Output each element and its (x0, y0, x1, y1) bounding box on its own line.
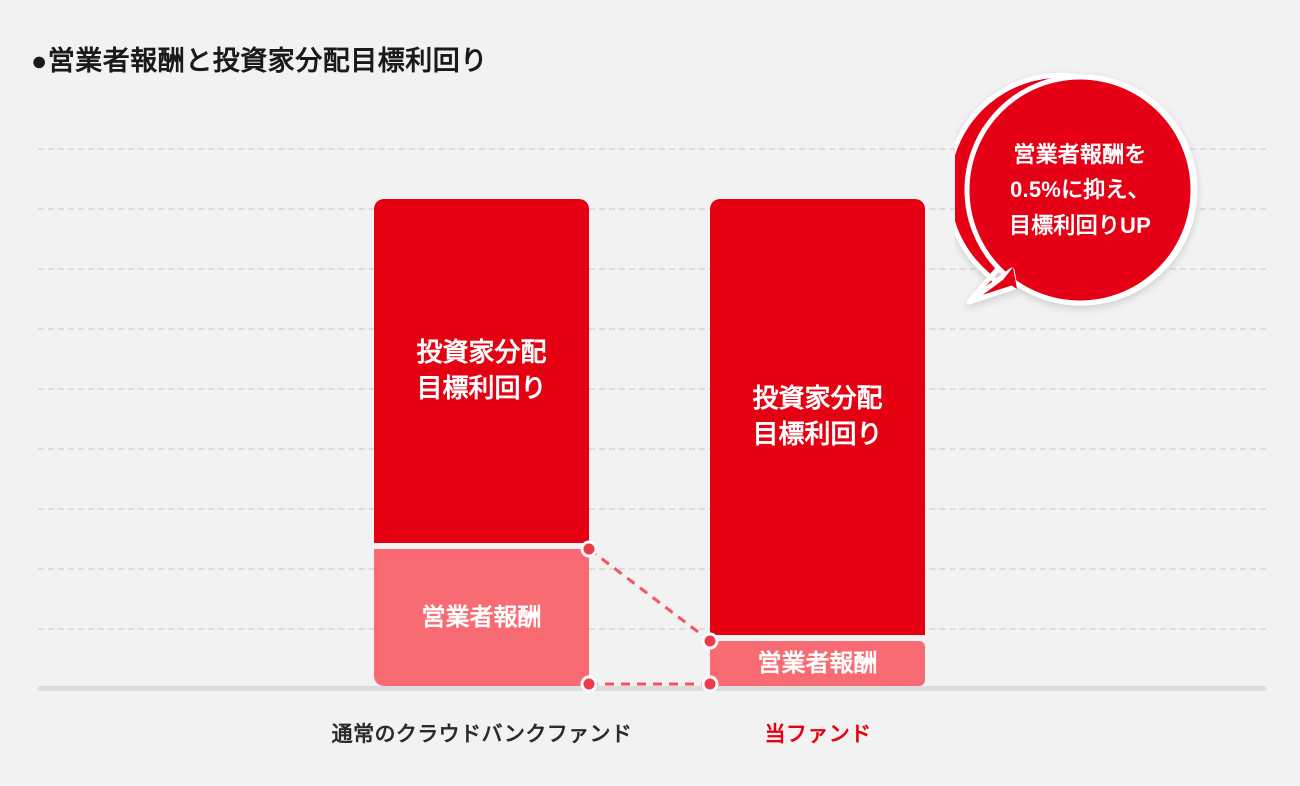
callout-line-2: 0.5%に抑え、 (1010, 172, 1150, 208)
bar-segment-label: 営業者報酬 (758, 647, 878, 680)
gridline (38, 388, 1266, 390)
bar-segment-label: 営業者報酬 (422, 601, 542, 634)
category-label-this-fund: 当ファンド (648, 718, 988, 748)
callout-line-3: 目標利回りUP (1009, 208, 1151, 244)
bar-segment-operator-fee-standard[interactable]: 営業者報酬 (374, 549, 589, 686)
gridline (38, 328, 1266, 330)
category-label-standard-fund: 通常のクラウドバンクファンド (312, 718, 652, 748)
gridline (38, 628, 1266, 630)
bar-segment-investor-yield-standard[interactable]: 投資家分配 目標利回り (374, 199, 589, 543)
callout-line-1: 営業者報酬を (1013, 137, 1146, 173)
bar-segment-investor-yield-this-fund[interactable]: 投資家分配 目標利回り (710, 199, 925, 635)
x-axis-baseline (38, 686, 1266, 691)
gridline (38, 448, 1266, 450)
callout-bubble: 営業者報酬を 0.5%に抑え、 目標利回りUP (967, 77, 1193, 303)
bar-segment-operator-fee-this-fund[interactable]: 営業者報酬 (710, 641, 925, 686)
gridline (38, 568, 1266, 570)
callout-text: 営業者報酬を 0.5%に抑え、 目標利回りUP (967, 77, 1193, 303)
gridline (38, 508, 1266, 510)
bar-segment-label: 投資家分配 目標利回り (752, 381, 882, 453)
bar-segment-label: 投資家分配 目標利回り (416, 335, 546, 407)
